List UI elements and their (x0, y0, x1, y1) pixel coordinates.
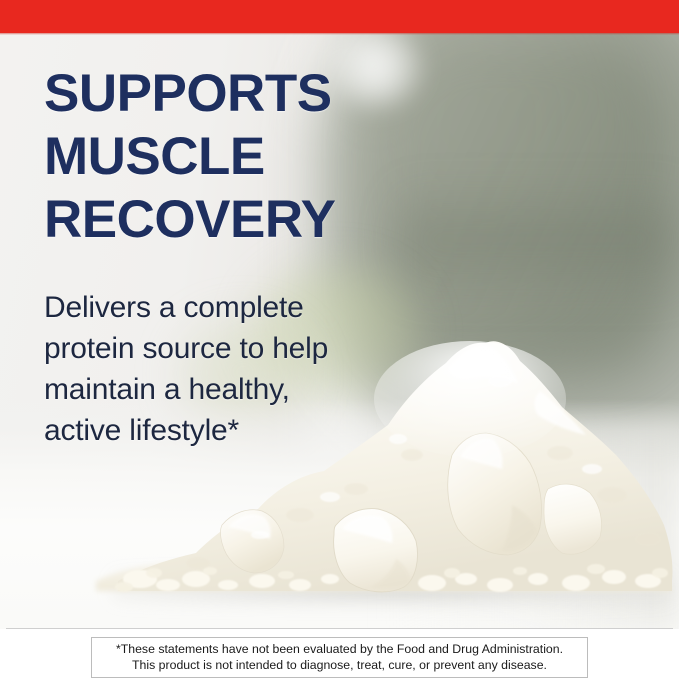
hero-subhead: Delivers a complete protein source to he… (44, 287, 404, 451)
product-claim-image: SUPPORTS MUSCLE RECOVERY Delivers a comp… (0, 0, 679, 679)
page-title: SUPPORTS MUSCLE RECOVERY (44, 62, 444, 251)
footer: *These statements have not been evaluate… (0, 629, 679, 679)
disclaimer-line-2: This product is not intended to diagnose… (98, 657, 581, 673)
top-red-banner (0, 0, 679, 33)
powder-contact-shadow (112, 571, 672, 605)
disclaimer-line-1: *These statements have not been evaluate… (98, 641, 581, 657)
fda-disclaimer-box: *These statements have not been evaluate… (91, 637, 588, 678)
